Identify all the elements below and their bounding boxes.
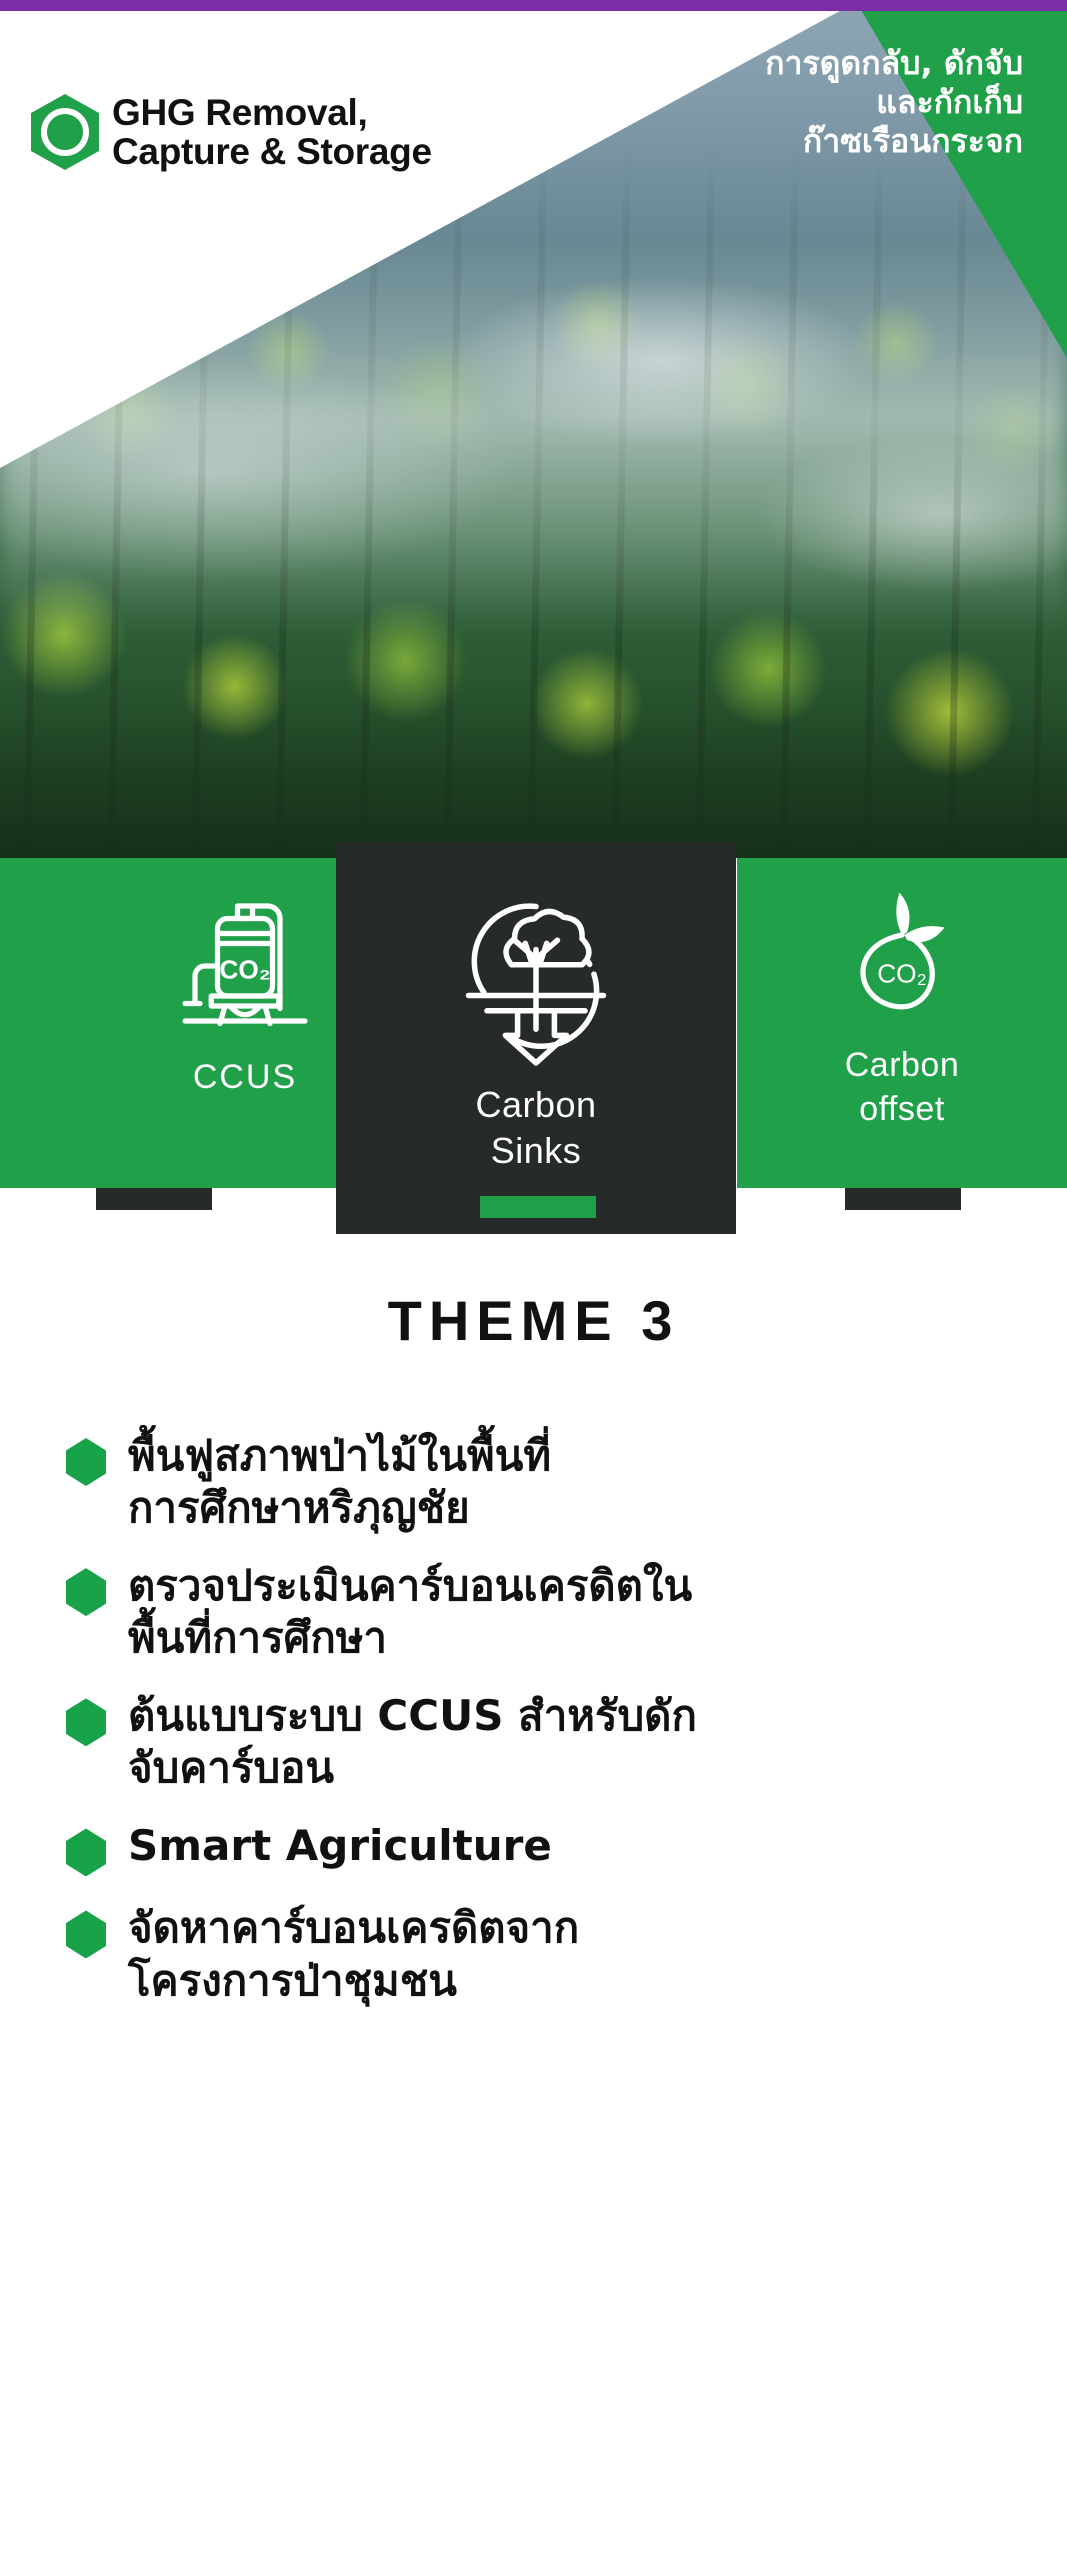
theme-card-strip: CO₂ CCUS Carbon Sinks	[0, 858, 1067, 1258]
hexagon-ring-logo-icon	[28, 92, 102, 172]
hexagon-bullet-icon	[66, 1438, 106, 1486]
page-title: THEME 3	[0, 1288, 1067, 1353]
hexagon-bullet-icon	[66, 1568, 106, 1616]
top-purple-rule	[0, 0, 1067, 11]
list-item-label: พื้นฟูสภาพป่าไม้ในพื้นที่ การศึกษาหริภุญ…	[128, 1430, 996, 1534]
list-item-label: ตรวจประเมินคาร์บอนเครดิตใน พื้นที่การศึก…	[128, 1560, 996, 1664]
hexagon-bullet-icon	[66, 1828, 106, 1876]
svg-text:CO₂: CO₂	[219, 955, 270, 985]
list-item-label: Smart Agriculture	[128, 1820, 996, 1872]
list-item: จัดหาคาร์บอนเครดิตจาก โครงการป่าชุมชน	[66, 1902, 996, 2006]
card-label-carbon-sinks: Carbon Sinks	[475, 1082, 596, 1174]
list-item: พื้นฟูสภาพป่าไม้ในพื้นที่ การศึกษาหริภุญ…	[66, 1430, 996, 1534]
hexagon-bullet-icon	[66, 1910, 106, 1958]
brand-title: GHG Removal, Capture & Storage	[112, 93, 432, 171]
co2-storage-tank-icon: CO₂	[170, 886, 320, 1036]
card-accent-bar-ccus	[96, 1188, 212, 1210]
card-carbon-offset[interactable]: CO₂ Carbon offset	[737, 858, 1067, 1188]
brand-lockup: GHG Removal, Capture & Storage	[28, 92, 432, 172]
tree-carbon-sink-icon	[444, 882, 628, 1066]
thai-header-title: การดูดกลับ, ดักจับ และกักเก็บ ก๊าซเรือนก…	[765, 44, 1023, 161]
co2-leaf-offset-icon: CO₂	[827, 880, 977, 1030]
card-label-ccus: CCUS	[193, 1056, 297, 1100]
list-item-label: จัดหาคาร์บอนเครดิตจาก โครงการป่าชุมชน	[128, 1902, 996, 2006]
list-item-label: ต้นแบบระบบ CCUS สำหรับดัก จับคาร์บอน	[128, 1690, 996, 1794]
card-carbon-sinks[interactable]: Carbon Sinks	[336, 842, 736, 1234]
svg-text:CO₂: CO₂	[877, 959, 927, 989]
card-label-carbon-offset: Carbon offset	[845, 1044, 960, 1131]
theme-bullet-list: พื้นฟูสภาพป่าไม้ในพื้นที่ การศึกษาหริภุญ…	[66, 1430, 996, 2033]
card-accent-bar-carbon-offset	[845, 1188, 961, 1210]
hexagon-bullet-icon	[66, 1698, 106, 1746]
list-item: ตรวจประเมินคาร์บอนเครดิตใน พื้นที่การศึก…	[66, 1560, 996, 1664]
list-item: Smart Agriculture	[66, 1820, 996, 1876]
list-item: ต้นแบบระบบ CCUS สำหรับดัก จับคาร์บอน	[66, 1690, 996, 1794]
card-accent-bar-carbon-sinks	[480, 1196, 596, 1218]
